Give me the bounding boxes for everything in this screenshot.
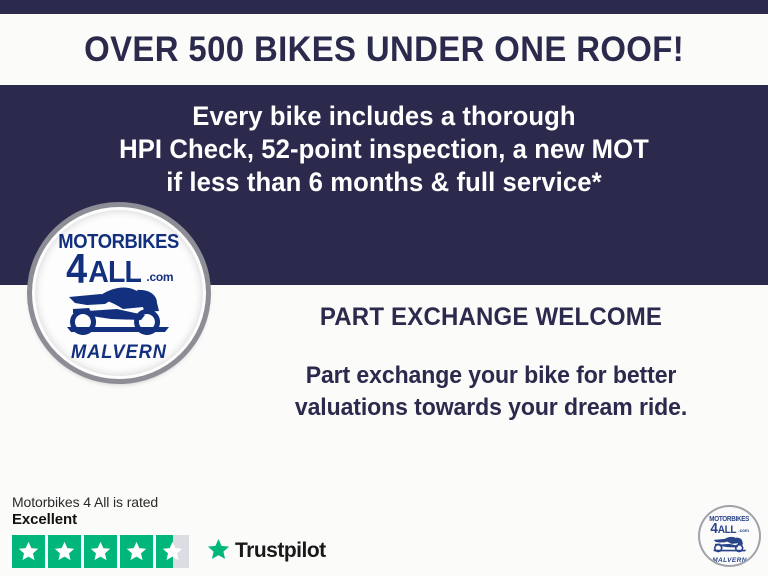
dealership-promo-banner: OVER 500 BIKES UNDER ONE ROOF! Every bik…: [0, 0, 768, 576]
trustpilot-star-icon: [206, 537, 231, 566]
watermark-domain-text: .com: [738, 526, 749, 536]
logo-inner: MOTORBIKES 4 ALL .com: [32, 207, 206, 379]
logo-all-text: ALL: [88, 257, 141, 286]
watermark-all-text: ALL: [718, 525, 736, 535]
logo-middle-row: 4 ALL .com: [65, 251, 173, 287]
trustpilot-brand[interactable]: Trustpilot: [206, 537, 326, 566]
star-icon-2: [48, 535, 81, 568]
trustpilot-widget[interactable]: Motorbikes 4 All is rated Excellent: [12, 494, 326, 568]
headline-band: OVER 500 BIKES UNDER ONE ROOF!: [0, 14, 768, 85]
logo-bottom-text: MALVERN: [71, 343, 167, 362]
headline-text: OVER 500 BIKES UNDER ONE ROOF!: [84, 32, 684, 67]
motorbikes4all-logo: MOTORBIKES 4 ALL .com: [32, 207, 206, 379]
watermark-logo: MOTORBIKES 4 ALL .com MALVERN: [700, 507, 759, 565]
part-exchange-title: PART EXCHANGE WELCOME: [225, 303, 757, 332]
star-icon-3: [84, 535, 117, 568]
sportbike-icon: [61, 285, 177, 342]
logo-numeral-4: 4: [66, 251, 85, 287]
inspection-line-1: Every bike includes a thorough: [19, 100, 749, 133]
watermark-sportbike-icon: [710, 536, 750, 558]
inspection-line-2: HPI Check, 52-point inspection, a new MO…: [19, 133, 749, 166]
top-navy-strip: [0, 0, 768, 14]
trustpilot-rating-row: Trustpilot: [12, 535, 326, 568]
trustpilot-rated-text: Motorbikes 4 All is rated: [12, 494, 326, 510]
watermark-middle-row: 4 ALL .com: [710, 523, 749, 536]
watermark-numeral-4: 4: [710, 523, 717, 536]
part-exchange-line-2: valuations towards your dream ride.: [225, 392, 757, 424]
part-exchange-line-1: Part exchange your bike for better: [225, 360, 757, 392]
inspection-line-3: if less than 6 months & full service*: [19, 166, 749, 199]
part-exchange-subtitle: Part exchange your bike for better valua…: [214, 360, 768, 424]
star-icon-4: [120, 535, 153, 568]
trustpilot-brand-name: Trustpilot: [235, 539, 326, 563]
star-icon-1: [12, 535, 45, 568]
inspection-details-text: Every bike includes a thorough HPI Check…: [0, 100, 768, 199]
star-icon-5-half: [156, 535, 189, 568]
trustpilot-stars: [12, 535, 189, 568]
trustpilot-score-word: Excellent: [12, 511, 326, 530]
